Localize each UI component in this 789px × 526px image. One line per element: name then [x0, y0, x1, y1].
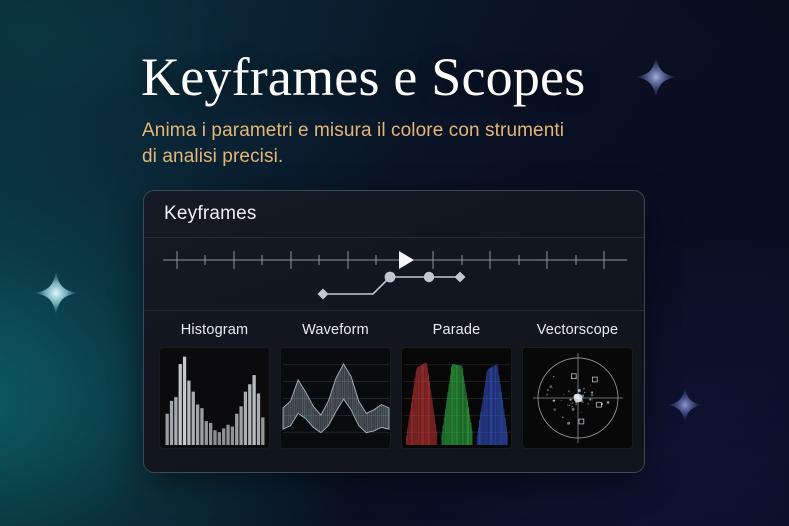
parade-chart	[402, 348, 512, 449]
scope-vectorscope[interactable]: Vectorscope	[522, 322, 633, 449]
waveform-chart	[281, 348, 391, 449]
scope-parade[interactable]: Parade	[401, 322, 512, 449]
scope-panel-histogram[interactable]	[159, 347, 270, 449]
page-subtitle: Anima i parametri e misura il colore con…	[142, 118, 572, 170]
keyframe-timeline[interactable]	[144, 238, 644, 310]
card-title: Keyframes	[164, 203, 257, 225]
card-header: Keyframes	[144, 191, 644, 238]
scope-label-waveform: Waveform	[280, 322, 391, 338]
keyframes-card: Keyframes	[143, 190, 645, 473]
scope-histogram[interactable]: Histogram	[159, 322, 270, 449]
keyframe-markers	[318, 272, 466, 300]
scope-label-vectorscope: Vectorscope	[522, 322, 633, 338]
playhead-marker	[399, 251, 414, 269]
sparkle-left-icon	[33, 270, 79, 316]
scope-panel-vectorscope[interactable]	[522, 347, 633, 449]
scopes-row: Histogram Waveform Parade	[144, 311, 644, 449]
scope-panel-parade[interactable]	[401, 347, 512, 449]
scope-panel-waveform[interactable]	[280, 347, 391, 449]
histogram-chart	[160, 348, 270, 449]
scope-waveform[interactable]: Waveform	[280, 322, 391, 449]
sparkle-top-right-icon	[634, 55, 678, 99]
scope-label-histogram: Histogram	[159, 322, 270, 338]
page-title: Keyframes e Scopes	[141, 45, 585, 109]
scope-label-parade: Parade	[401, 322, 512, 338]
sparkle-bottom-right-icon	[666, 386, 704, 424]
vectorscope-chart	[523, 348, 633, 449]
